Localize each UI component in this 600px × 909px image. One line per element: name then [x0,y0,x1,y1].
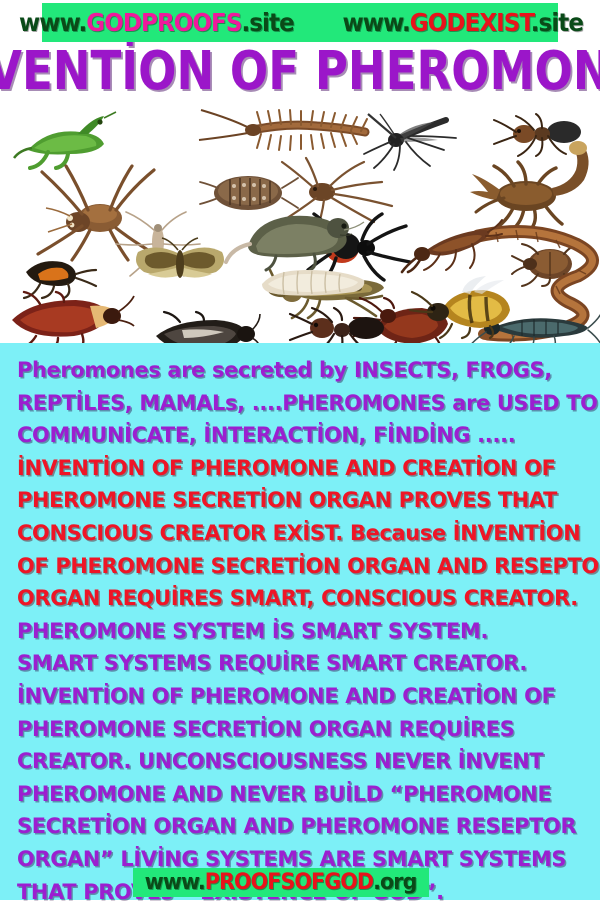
mouse-icon [226,200,366,272]
moth-icon [128,238,232,294]
url-domain-name: PROOFSOFGOD [205,870,373,895]
page-title-area: İNVENTİON OF PHEROMONEs [0,42,600,100]
url-domain-name: GODEXIST [409,8,530,37]
url-suffix: .org [374,870,417,895]
body-line: SMART SYSTEMS REQUİRE SMART CREATOR. [17,648,575,681]
body-line: CREATOR. UNCONSCIOUSNESS NEVER İNVENT [17,746,575,779]
top-url-banner: www.GODPROOFS.site www.GODEXIST.site [42,3,558,42]
body-line: PHEROMONE SYSTEM İS SMART SYSTEM. [17,616,575,649]
ant-bottom-icon [290,308,390,343]
url-prefix: www. [342,8,409,37]
body-line: REPTİLES, MAMALs, ....PHEROMONES are USE… [17,388,575,421]
body-line: CONSCIOUS CREATOR EXİST. Because İNVENTİ… [17,518,575,551]
body-line: SECRETİON ORGAN AND PHEROMONE RESEPTOR [17,811,575,844]
bottom-url-banner: www.PROOFSOFGOD.org [133,868,429,897]
cockroach-mid-icon [142,312,260,343]
honeybee-icon [408,276,520,338]
insect-collage [0,100,600,343]
body-line: PHEROMONE SECRETİON ORGAN PROVES THAT [17,485,575,518]
url-suffix: .site [530,8,582,37]
url-godproofs[interactable]: www.GODPROOFS.site [19,8,294,37]
green-mantis-icon [8,110,118,170]
cockroach-left-icon [4,292,134,343]
larva-grub-icon [254,266,372,300]
body-line: PHEROMONE AND NEVER BUİLD “PHEROMONE [17,779,575,812]
url-suffix: .site [241,8,293,37]
poster-root: www.GODPROOFS.site www.GODEXIST.site İNV… [0,0,600,900]
body-line: İNVENTİON OF PHEROMONE AND CREATİON OF [17,453,575,486]
body-text-block: Pheromones are secreted by INSECTS, FROG… [0,343,600,900]
body-line: ORGAN REQUİRES SMART, CONSCIOUS CREATOR. [17,583,575,616]
centipede-icon [195,106,370,154]
body-line: COMMUNİCATE, İNTERACTİON, FİNDİNG ..... [17,420,575,453]
url-proofsofgod[interactable]: www.PROOFSOFGOD.org [145,870,417,895]
url-godexist[interactable]: www.GODEXIST.site [342,8,583,37]
url-domain-name: GODPROOFS [86,8,241,37]
url-prefix: www. [145,870,205,895]
url-prefix: www. [19,8,86,37]
body-line: İNVENTİON OF PHEROMONE AND CREATİON OF [17,681,575,714]
body-line: PHEROMONE SECRETİON ORGAN REQUİRES [17,714,575,747]
page-title: İNVENTİON OF PHEROMONEs [0,42,600,100]
body-line: OF PHEROMONE SECRETİON ORGAN AND RESEPTO… [17,551,575,584]
body-line: Pheromones are secreted by INSECTS, FROG… [17,355,575,388]
earwig-icon [402,218,502,272]
